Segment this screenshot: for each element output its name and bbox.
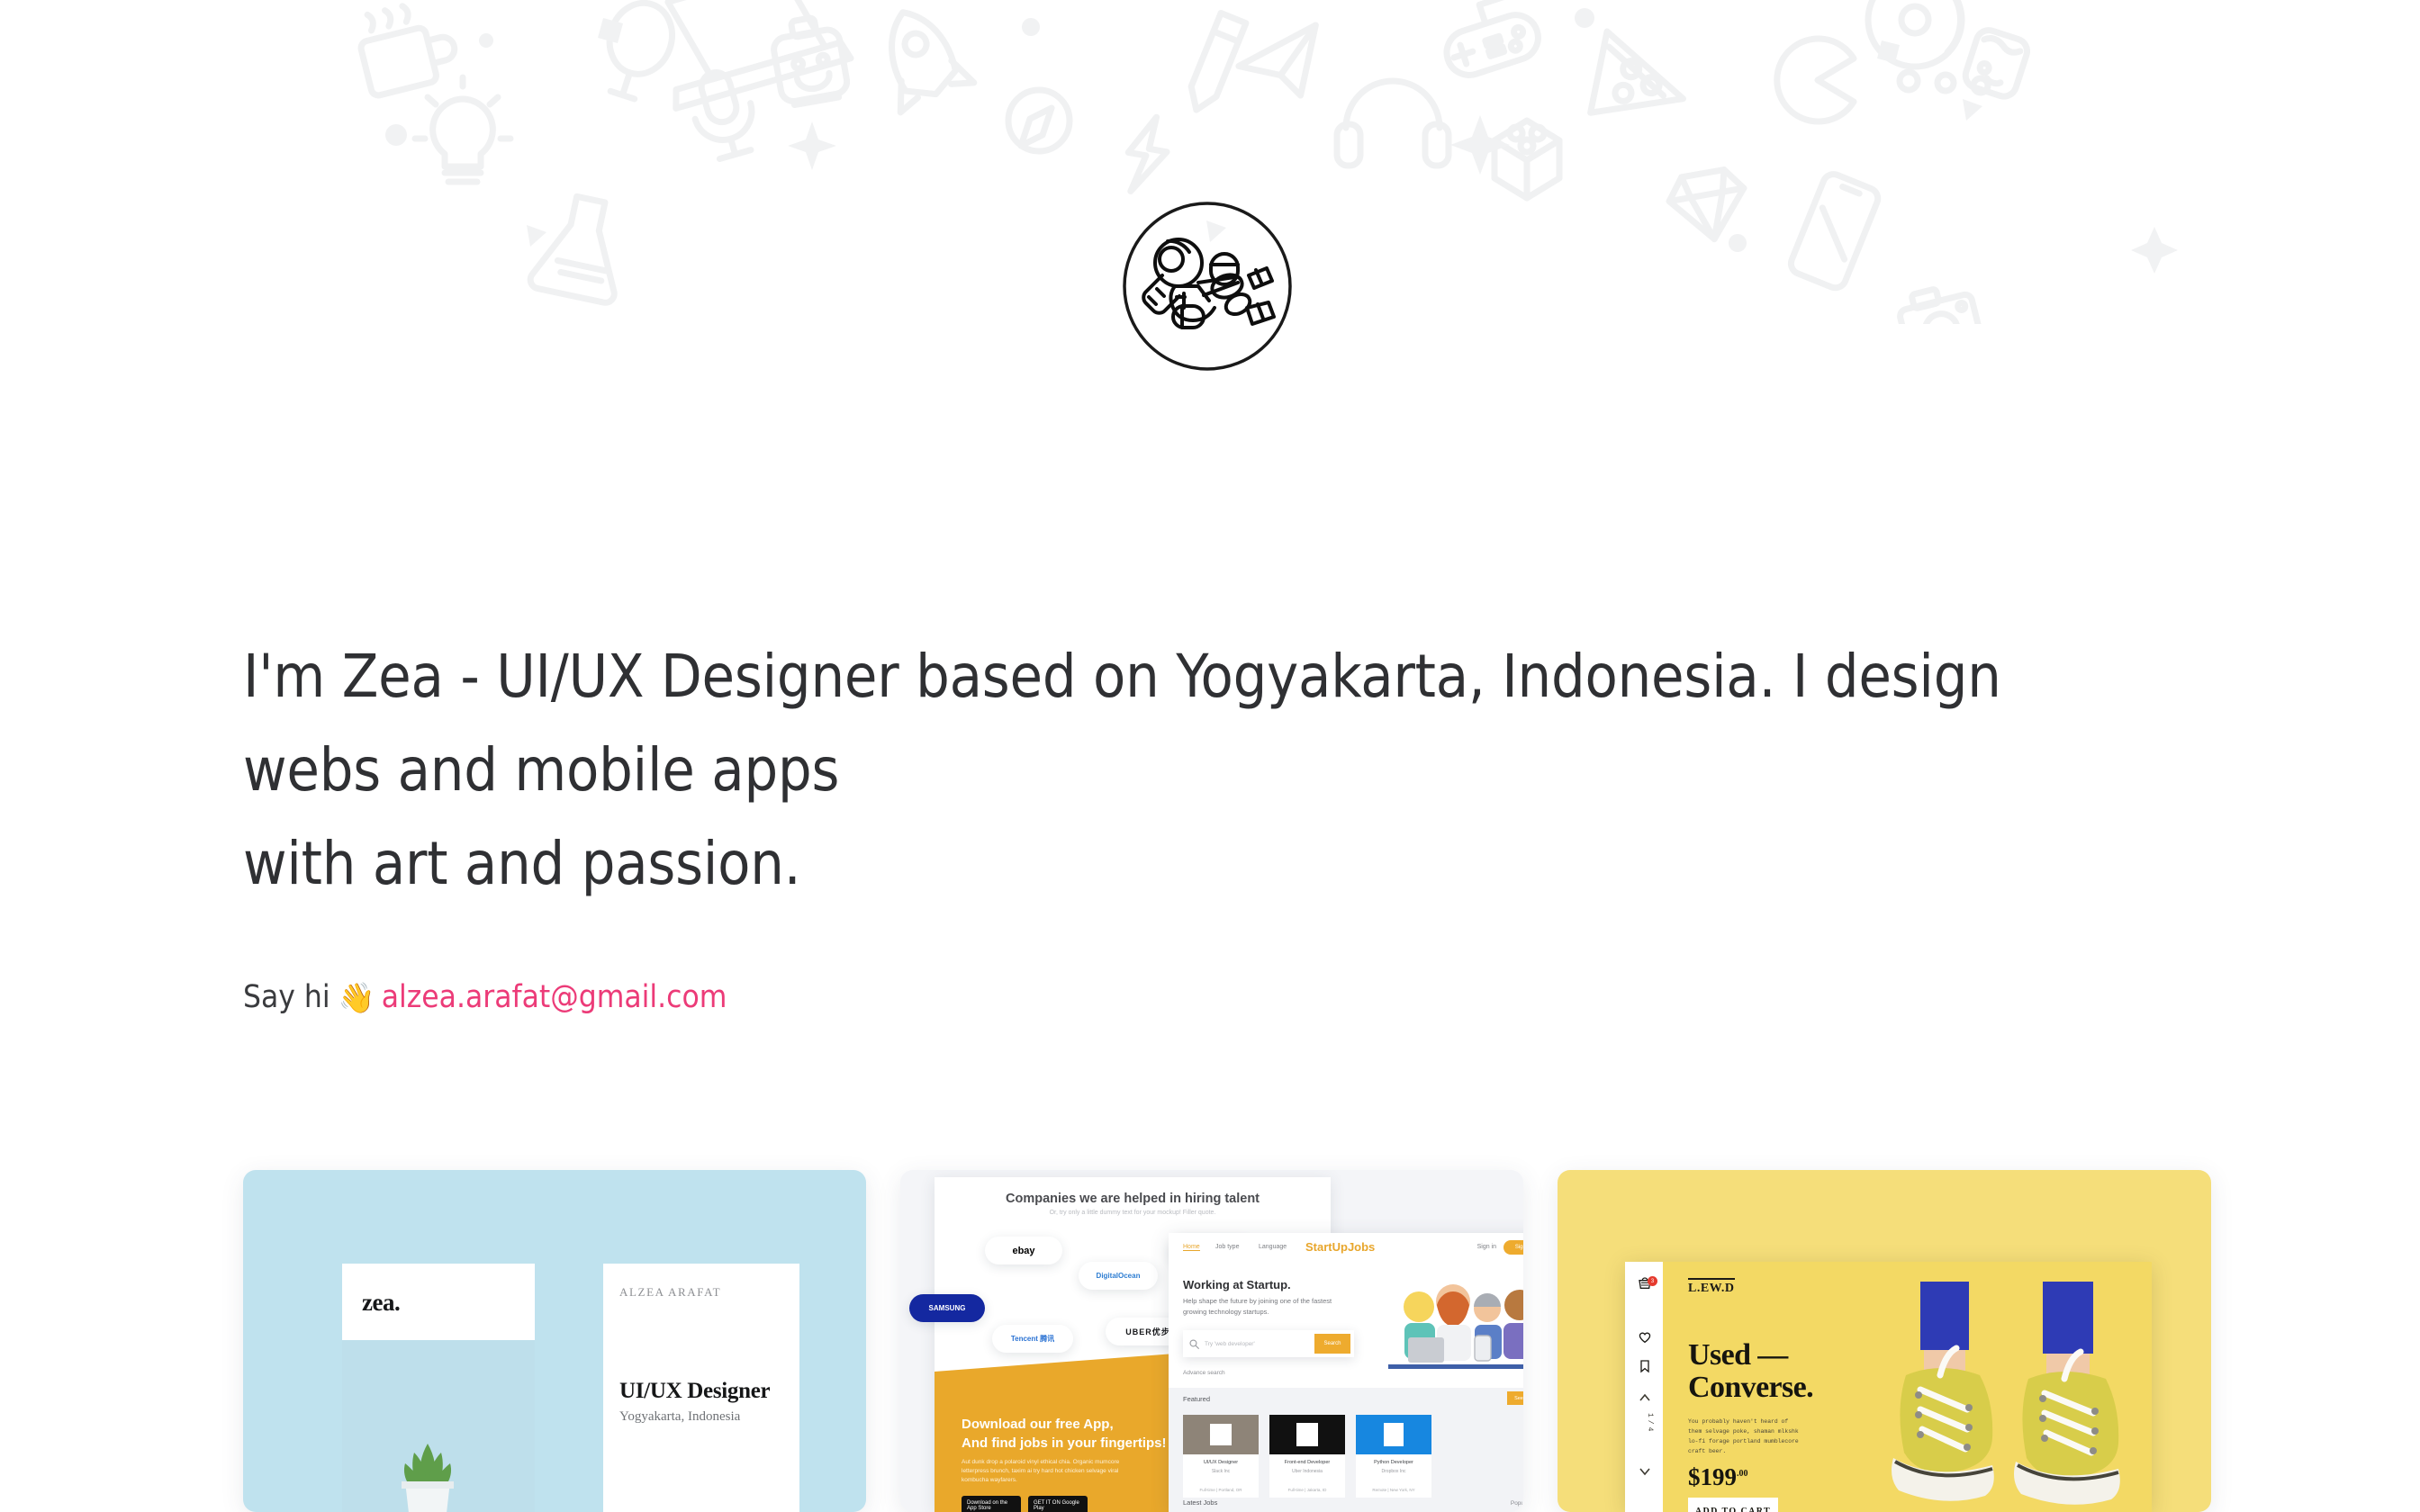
dot-icon [1575,8,1594,28]
sign-up-button[interactable]: Sign up [1503,1240,1523,1255]
astronaut-figure [1143,239,1274,328]
dot-icon [1937,75,1954,91]
product-price: $199.00 [1688,1463,1748,1491]
landing-subtitle: Or, try only a little dummy text for you… [935,1210,1331,1216]
smartphone-icon [1788,171,1882,291]
astronaut-logo[interactable] [1121,200,1294,373]
square-icon [598,18,623,43]
job-meta: Full-time | Portland, OR [1183,1488,1259,1492]
dot-icon [1973,78,1988,93]
gamepad-icon [1435,0,1544,81]
job-image [1356,1415,1431,1454]
paper-plane-icon [1234,25,1327,105]
pizza-icon [1587,31,1694,133]
search-button[interactable]: Search [1314,1334,1350,1354]
job-title: Python Developer [1356,1460,1431,1465]
pacman-icon [1777,39,1854,121]
lightbulb-icon [415,77,510,182]
job-title: UI/UX Designer [1183,1460,1259,1465]
google-play-badge[interactable]: GET IT ON Google Play [1028,1496,1088,1512]
waving-hand-icon: 👋 [339,983,375,1012]
job-company: Dropbox Inc [1356,1469,1431,1474]
landing-title: Companies we are helped in hiring talent [935,1192,1331,1206]
slide-pager: 1/4 [1634,1413,1654,1434]
logo-tencent: Tencent 腾讯 [992,1325,1073,1353]
app-heading: Working at Startup. [1183,1278,1291,1291]
star-icon [2131,227,2178,274]
heart-icon[interactable] [1638,1330,1652,1345]
see-more-button[interactable]: See More [1507,1391,1523,1405]
logo-ebay: ebay [985,1237,1062,1264]
job-card[interactable]: Front-end Developer Uber Indonesia Full-… [1269,1415,1345,1498]
card-owner-name: ALZEA ARAFAT [619,1285,721,1300]
startupjobs-logo: StartUpJobs [1305,1240,1375,1254]
logo-digitalocean: DigitalOcean [1079,1262,1158,1290]
star-icon [788,121,836,170]
nav-language[interactable]: Language [1259,1244,1287,1250]
chevron-down-icon[interactable] [1639,1467,1650,1476]
say-hi-label: Say hi [243,976,330,1018]
card-role: UI/UX Designer [619,1379,770,1404]
advance-search-link[interactable]: Advance search [1183,1370,1225,1376]
chevron-up-icon[interactable] [1639,1393,1650,1402]
cart-badge: 3 [1648,1276,1657,1286]
search-placeholder: Try 'web developer' [1205,1341,1255,1347]
shop-hero: L.EW.D Used —Converse. You probably have… [1663,1262,2152,1512]
triangle-icon [1963,99,1982,121]
search-icon [1189,1339,1199,1349]
project-cards: zea. ALZEA ARAFAT UI/UX Designer Yogyaka… [0,1170,2420,1512]
lego-head-icon [770,13,850,106]
zea-logo-text: zea. [362,1289,400,1317]
app-navbar: Home Job type Language StartUpJobs Sign … [1169,1233,1523,1262]
job-meta: Remote | New York, NY [1356,1488,1431,1492]
star-icon [1450,115,1510,175]
project-card-branding[interactable]: zea. ALZEA ARAFAT UI/UX Designer Yogyaka… [243,1170,866,1512]
lightning-icon [1122,113,1172,196]
lego-brick-icon [1494,121,1559,198]
coffee-mug-icon [354,0,462,97]
shop-browser-mockup: L.EW.D Used —Converse. You probably have… [1625,1262,2152,1512]
business-card-mockup: ALZEA ARAFAT UI/UX Designer Yogyakarta, … [603,1264,799,1512]
promo-body: Aut dunk drop a polaroid vinyl ethical c… [962,1458,1142,1485]
job-company: Slack Inc [1183,1469,1259,1474]
dot-icon [1729,234,1747,252]
job-title: Front-end Developer [1269,1460,1345,1465]
featured-label: Featured [1183,1395,1210,1403]
latest-jobs-label: Latest Jobs [1183,1498,1217,1507]
mirror-icon [593,0,681,104]
dot-icon [1022,18,1040,36]
nav-job-type[interactable]: Job type [1215,1244,1239,1250]
job-image [1183,1415,1259,1454]
project-card-startupjobs[interactable]: Companies we are helped in hiring talent… [900,1170,1523,1512]
dot-icon [1900,72,1918,90]
rocket-icon [866,0,974,112]
project-card-ecommerce[interactable]: L.EW.D Used —Converse. You probably have… [1558,1170,2211,1512]
app-store-badge[interactable]: Download on the App Store [962,1496,1021,1512]
promo-line-2: And find jobs in your fingertips! [962,1435,1166,1451]
promo-line-1: Download our free App, [962,1417,1114,1432]
headphones-icon [1337,81,1449,166]
portfolio-page: I'm Zea - UI/UX Designer based on Yogyak… [0,0,2420,1512]
triangle-icon [527,225,546,247]
shop-brand-logo: L.EW.D [1688,1278,1735,1296]
team-illustration [1388,1278,1523,1372]
app-body: Help shape the future by joining one of … [1183,1296,1345,1318]
jobs-app-mockup: Home Job type Language StartUpJobs Sign … [1169,1233,1523,1512]
contact-row: Say hi 👋 alzea.arafat@gmail.com [243,976,727,1018]
shop-sidebar: 3 1/4 [1625,1262,1663,1512]
plant-decoration [378,1440,477,1512]
nav-home[interactable]: Home [1183,1244,1200,1251]
dot-icon [385,124,407,146]
job-search-bar[interactable]: Try 'web developer' Search [1183,1330,1354,1357]
job-card[interactable]: UI/UX Designer Slack Inc Full-time | Por… [1183,1415,1259,1498]
laptop-icon [647,0,851,108]
diamond-icon [1666,166,1752,245]
add-to-cart-button[interactable]: ADD TO CART [1688,1498,1778,1512]
camera-icon [1895,281,1982,324]
sandwich-icon [1963,27,2031,100]
sign-in-link[interactable]: Sign in [1477,1244,1496,1250]
job-meta: Full-time | Jakarta, ID [1269,1488,1345,1492]
logo-samsung: SAMSUNG [909,1294,985,1322]
card-location: Yogyakarta, Indonesia [619,1409,740,1425]
flask-icon [528,191,632,304]
email-link[interactable]: alzea.arafat@gmail.com [382,976,727,1018]
bookmark-icon[interactable] [1638,1359,1652,1373]
product-title: Used —Converse. [1688,1339,1813,1404]
pencil-icon [1184,13,1246,114]
job-company: Uber Indonesia [1269,1469,1345,1474]
cd-icon [1868,0,1962,67]
page-title: I'm Zea - UI/UX Designer based on Yogyak… [243,630,2134,911]
compass-icon [1008,90,1070,151]
microphone-icon [684,65,763,162]
converse-shoes-photo [1870,1282,2152,1512]
square-icon [1877,40,1900,63]
product-description: You probably haven't heard of them selva… [1688,1417,1803,1456]
popular-jobs-filter[interactable]: Popular jobs [1511,1500,1523,1507]
job-image [1269,1415,1345,1454]
job-card[interactable]: Python Developer Dropbox Inc Remote | Ne… [1356,1415,1431,1498]
dot-icon [479,33,493,48]
featured-section: Featured See More UI/UX Designer Slack I… [1169,1388,1523,1512]
